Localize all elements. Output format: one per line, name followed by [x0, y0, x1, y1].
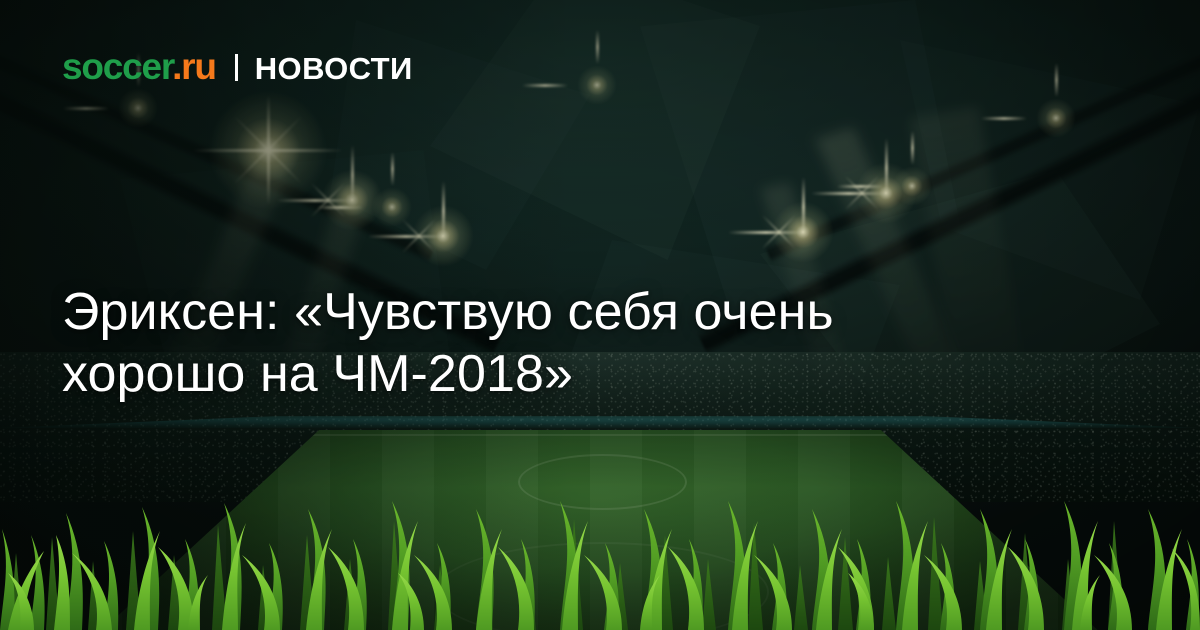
brand-divider: [235, 54, 238, 81]
logo-word-ru: .ru: [172, 46, 216, 87]
logo-word-soccer: soccer: [62, 46, 172, 87]
news-share-card: soccer.ru НОВОСТИ Эриксен: «Чувствую себ…: [0, 0, 1200, 630]
article-headline: Эриксен: «Чувствую себя очень хорошо на …: [62, 281, 1022, 405]
brand-bar[interactable]: soccer.ru НОВОСТИ: [62, 48, 413, 85]
section-label: НОВОСТИ: [255, 53, 413, 84]
site-logo[interactable]: soccer.ru: [62, 48, 216, 85]
